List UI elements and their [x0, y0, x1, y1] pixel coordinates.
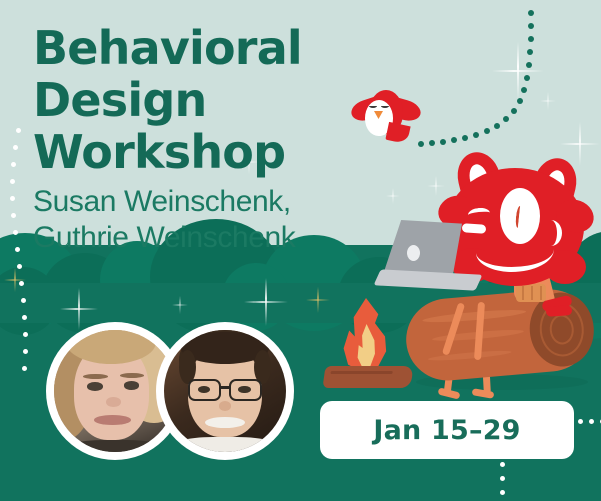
title-line-1: Behavioral Design	[33, 21, 302, 127]
date-badge[interactable]: Jan 15–29	[320, 401, 574, 459]
sparkle-icon	[60, 288, 98, 330]
date-badge-label: Jan 15–29	[373, 415, 520, 446]
presenter-line-1: Susan Weinschenk,	[33, 185, 291, 218]
sparkle-icon	[540, 92, 556, 110]
presenter-photo-guthrie	[164, 330, 286, 452]
dotted-trail-badge-icon	[578, 415, 601, 431]
presenter-line-2: Guthrie Weinschenk	[33, 221, 295, 254]
title-line-2: Workshop	[33, 125, 285, 179]
sparkle-icon	[492, 42, 544, 100]
laptop-keyboard	[374, 269, 483, 290]
dotted-trail-badge-down-icon	[500, 462, 516, 501]
sparkle-icon	[244, 278, 288, 326]
fox-on-log-with-laptop-icon	[398, 152, 601, 402]
flying-bird-icon	[343, 86, 423, 148]
sparkle-icon	[4, 268, 26, 292]
event-promo-poster: Behavioral Design Workshop Susan Weinsch…	[0, 0, 601, 501]
avatar	[156, 322, 294, 460]
sparkle-icon	[172, 296, 188, 314]
laptop-icon	[376, 220, 484, 292]
